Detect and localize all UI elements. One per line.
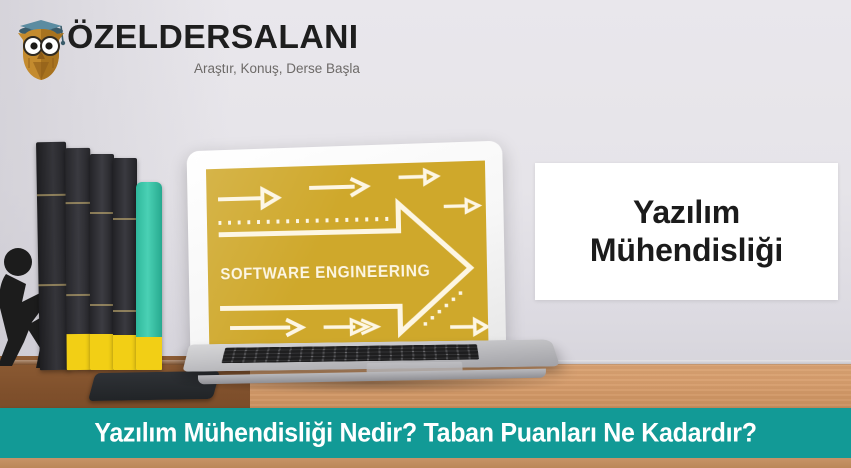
site-logo[interactable]: ÖZELDERSALANI Araştır, Konuş, Derse Başl… — [8, 4, 388, 88]
book-spine-4 — [113, 158, 137, 370]
page-title: Yazılım Mühendisliği — [590, 194, 783, 270]
laptop-front-edge — [198, 369, 546, 385]
book-accent-5 — [136, 337, 162, 370]
laptop-screen: SOFTWARE ENGINEERING — [206, 161, 489, 348]
logo-wordmark: ÖZELDERSALANI — [67, 18, 358, 56]
book-accent-2 — [67, 334, 92, 370]
screen-graphic: SOFTWARE ENGINEERING — [206, 161, 489, 348]
screen-label: SOFTWARE ENGINEERING — [220, 262, 430, 285]
page-title-line-1: Yazılım — [633, 194, 740, 230]
book-stack — [38, 142, 168, 370]
book-accent-3 — [90, 334, 114, 370]
book-accent-4 — [113, 335, 137, 370]
book-spine-3 — [90, 154, 114, 370]
bottom-desk-strip — [0, 458, 851, 468]
owl-graduate-icon — [12, 10, 70, 82]
book-spine-5-teal — [136, 182, 162, 370]
logo-tagline: Araştır, Konuş, Derse Başla — [194, 61, 360, 76]
caption-bar: Yazılım Mühendisliği Nedir? Taban Puanla… — [0, 408, 851, 458]
title-card: Yazılım Mühendisliği — [535, 163, 838, 300]
caption-text: Yazılım Mühendisliği Nedir? Taban Puanla… — [94, 418, 756, 449]
laptop: SOFTWARE ENGINEERING — [176, 146, 566, 402]
book-spine-2 — [65, 148, 92, 370]
screenshot-stage: SOFTWARE ENGINEERING — [0, 0, 851, 468]
laptop-keyboard — [221, 344, 479, 363]
laptop-lid: SOFTWARE ENGINEERING — [187, 141, 507, 362]
page-title-line-2: Mühendisliği — [590, 232, 783, 268]
laptop-base — [176, 342, 566, 402]
laptop-deck — [182, 339, 560, 371]
